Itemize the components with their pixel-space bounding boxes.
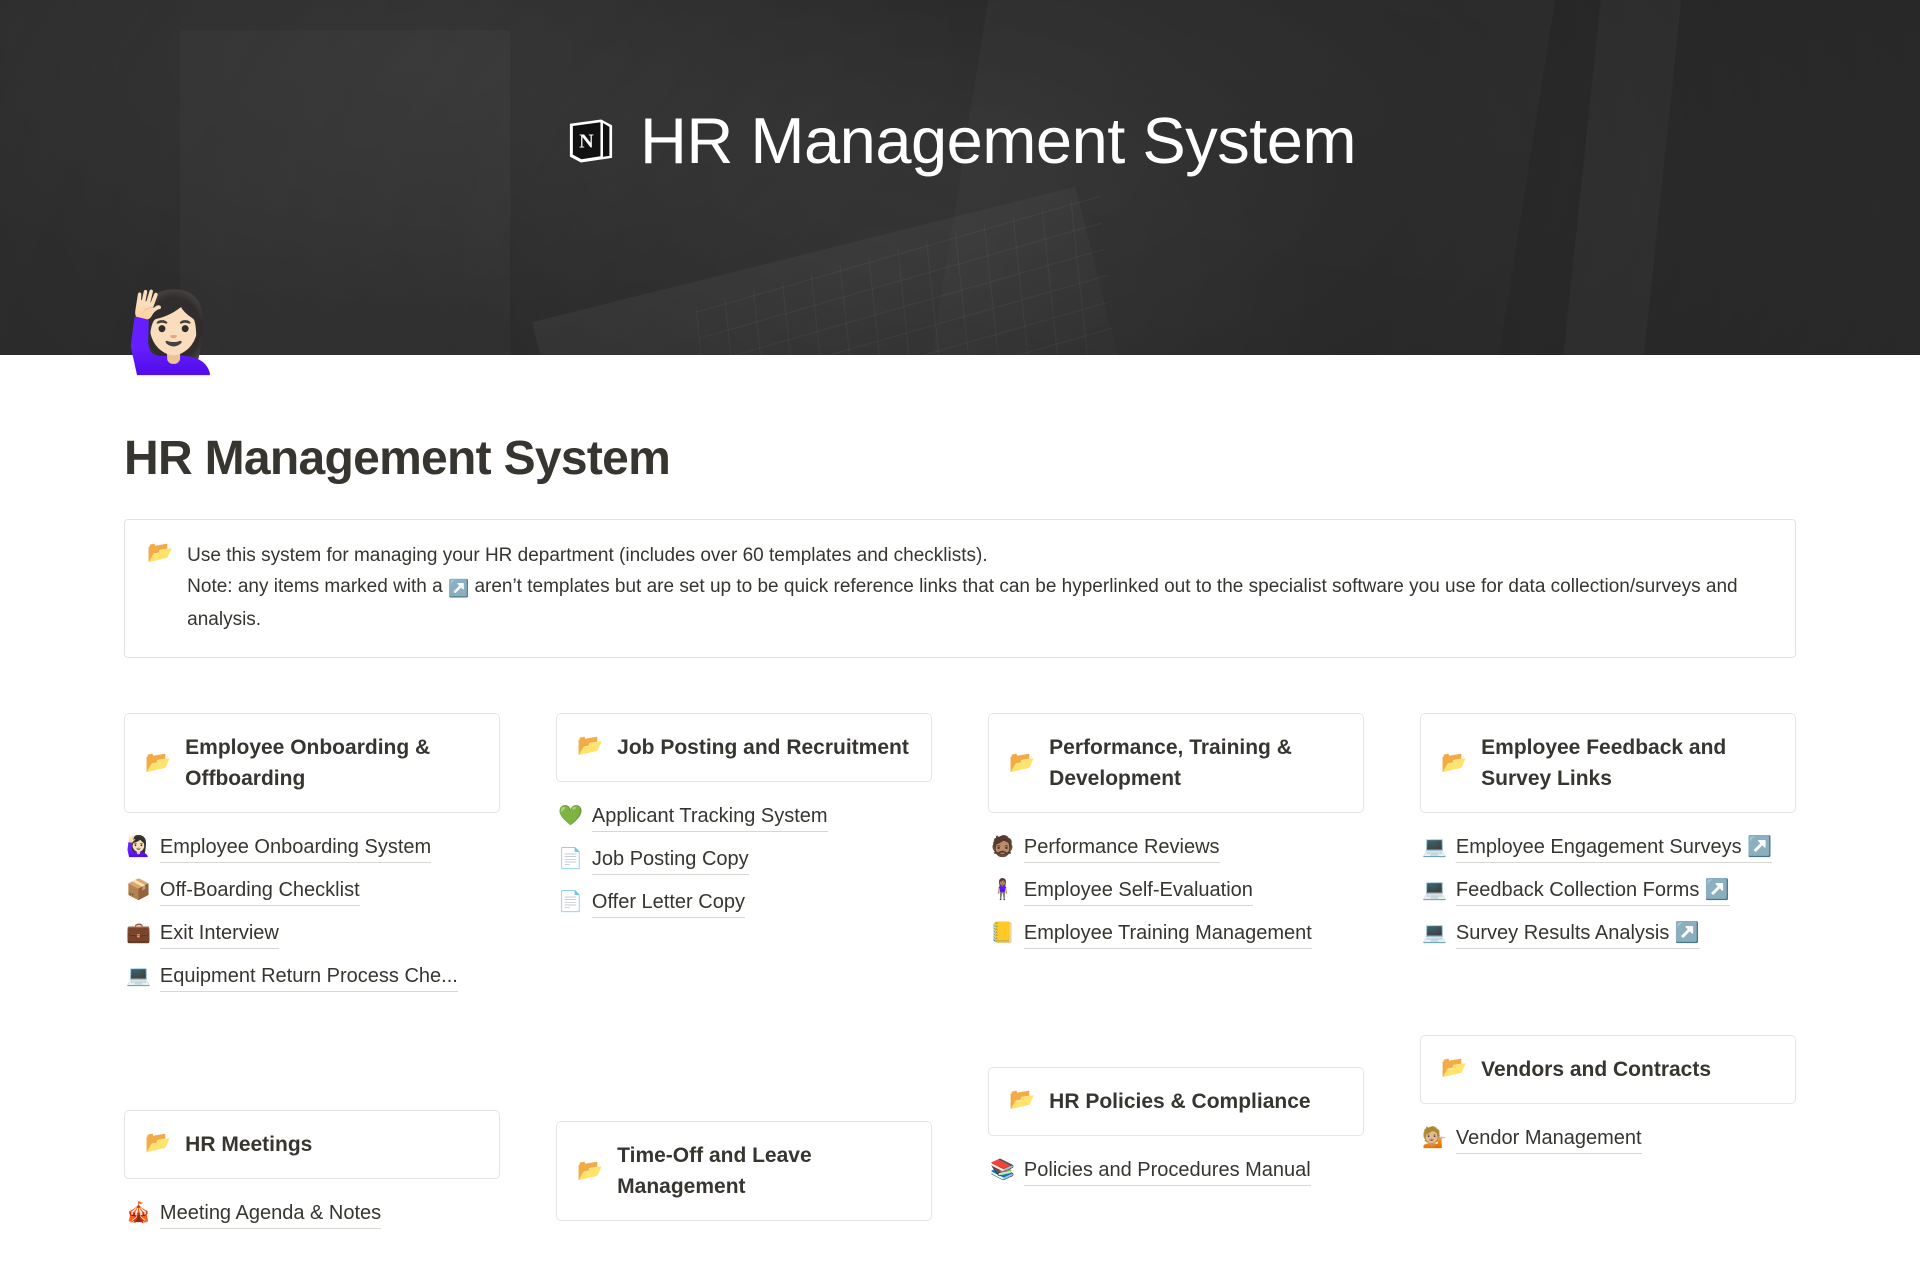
grid-column: 📂 Job Posting and Recruitment 💚 Applican… bbox=[556, 713, 932, 1229]
cover-vignette bbox=[0, 0, 1920, 355]
person-tipping-hand-emoji: 💁🏼 bbox=[1422, 1124, 1447, 1152]
grid-column: 📂 Performance, Training & Development 🧔🏽… bbox=[988, 713, 1364, 1229]
package-emoji: 📦 bbox=[126, 876, 151, 904]
open-folder-emoji: 📂 bbox=[1009, 749, 1035, 777]
page-icon-emoji[interactable]: 🙋🏻‍♀️ bbox=[125, 293, 222, 371]
card-title: Job Posting and Recruitment bbox=[617, 732, 909, 763]
list-item-label[interactable]: Feedback Collection Forms ↗️ bbox=[1456, 876, 1730, 906]
page-title: HR Management System bbox=[0, 355, 1920, 486]
section-card-time-off-and-leave-management[interactable]: 📂 Time-Off and Leave Management bbox=[556, 1121, 932, 1221]
list-item-label[interactable]: Employee Onboarding System bbox=[160, 833, 431, 863]
section-card-vendors-and-contracts[interactable]: 📂 Vendors and Contracts bbox=[1420, 1035, 1796, 1104]
list-item[interactable]: 📒 Employee Training Management bbox=[990, 919, 1364, 949]
section-card-hr-meetings[interactable]: 📂 HR Meetings bbox=[124, 1110, 500, 1179]
open-folder-emoji: 📂 bbox=[147, 540, 173, 566]
list-item[interactable]: 📚 Policies and Procedures Manual bbox=[990, 1156, 1364, 1186]
open-folder-emoji: 📂 bbox=[1009, 1086, 1035, 1114]
laptop-emoji: 💻 bbox=[1422, 919, 1447, 947]
grid-column: 📂 Employee Onboarding & Offboarding 🙋🏻‍♀… bbox=[124, 713, 500, 1229]
woman-standing-emoji: 🧍🏽‍♀️ bbox=[990, 876, 1015, 904]
list-item[interactable]: 📄 Job Posting Copy bbox=[558, 845, 932, 875]
row-spacer bbox=[1420, 949, 1796, 1035]
notion-cube-icon: N bbox=[564, 114, 618, 168]
list-item-label[interactable]: Offer Letter Copy bbox=[592, 888, 745, 918]
list-item-label[interactable]: Off-Boarding Checklist bbox=[160, 876, 360, 906]
open-folder-emoji: 📂 bbox=[577, 732, 603, 760]
list-item[interactable]: 🧔🏽 Performance Reviews bbox=[990, 833, 1364, 863]
list-item-label[interactable]: Policies and Procedures Manual bbox=[1024, 1156, 1311, 1186]
list-item-label[interactable]: Applicant Tracking System bbox=[592, 802, 828, 832]
link-list: 💁🏼 Vendor Management bbox=[1420, 1124, 1796, 1154]
row-spacer bbox=[988, 949, 1364, 1067]
list-item[interactable]: 🧍🏽‍♀️ Employee Self-Evaluation bbox=[990, 876, 1364, 906]
list-item-label[interactable]: Employee Training Management bbox=[1024, 919, 1312, 949]
open-folder-emoji: 📂 bbox=[145, 1129, 171, 1157]
books-emoji: 📚 bbox=[990, 1156, 1015, 1184]
open-folder-emoji: 📂 bbox=[577, 1157, 603, 1185]
link-list: 💚 Applicant Tracking System 📄 Job Postin… bbox=[556, 802, 932, 918]
link-list: 📚 Policies and Procedures Manual bbox=[988, 1156, 1364, 1186]
list-item[interactable]: 💻 Employee Engagement Surveys ↗️ bbox=[1422, 833, 1796, 863]
card-grid: 📂 Employee Onboarding & Offboarding 🙋🏻‍♀… bbox=[124, 713, 1796, 1229]
list-item[interactable]: 💻 Survey Results Analysis ↗️ bbox=[1422, 919, 1796, 949]
list-item-label[interactable]: Exit Interview bbox=[160, 919, 279, 949]
list-item[interactable]: 🎪 Meeting Agenda & Notes bbox=[126, 1199, 500, 1229]
list-item-label[interactable]: Meeting Agenda & Notes bbox=[160, 1199, 381, 1229]
list-item[interactable]: 💻 Equipment Return Process Che... bbox=[126, 962, 500, 992]
card-title: HR Policies & Compliance bbox=[1049, 1086, 1310, 1117]
callout-text: Use this system for managing your HR dep… bbox=[187, 540, 1773, 635]
list-item-label[interactable]: Vendor Management bbox=[1456, 1124, 1642, 1154]
link-list: 🎪 Meeting Agenda & Notes bbox=[124, 1199, 500, 1229]
card-title: Performance, Training & Development bbox=[1049, 732, 1343, 794]
row-spacer bbox=[124, 992, 500, 1110]
ledger-emoji: 📒 bbox=[990, 919, 1015, 947]
card-title: HR Meetings bbox=[185, 1129, 312, 1160]
gem-stone-emoji: 💚 bbox=[558, 802, 583, 830]
person-beard-emoji: 🧔🏽 bbox=[990, 833, 1015, 861]
cover-title-row: N HR Management System bbox=[0, 108, 1920, 173]
open-folder-emoji: 📂 bbox=[1441, 749, 1467, 777]
section-card-employee-feedback-and-survey-links[interactable]: 📂 Employee Feedback and Survey Links bbox=[1420, 713, 1796, 813]
open-folder-emoji: 📂 bbox=[145, 749, 171, 777]
list-item[interactable]: 📦 Off-Boarding Checklist bbox=[126, 876, 500, 906]
card-title: Vendors and Contracts bbox=[1481, 1054, 1711, 1085]
section-card-employee-onboarding-offboarding[interactable]: 📂 Employee Onboarding & Offboarding bbox=[124, 713, 500, 813]
section-card-performance-training-development[interactable]: 📂 Performance, Training & Development bbox=[988, 713, 1364, 813]
city-sunset-emoji: 🎪 bbox=[126, 1199, 151, 1227]
list-item-label[interactable]: Equipment Return Process Che... bbox=[160, 962, 458, 992]
page-cover-banner: N HR Management System bbox=[0, 0, 1920, 355]
section-card-hr-policies-compliance[interactable]: 📂 HR Policies & Compliance bbox=[988, 1067, 1364, 1136]
page-facing-up-emoji: 📄 bbox=[558, 845, 583, 873]
list-item[interactable]: 💚 Applicant Tracking System bbox=[558, 802, 932, 832]
grid-column: 📂 Employee Feedback and Survey Links 💻 E… bbox=[1420, 713, 1796, 1229]
link-list: 💻 Employee Engagement Surveys ↗️ 💻 Feedb… bbox=[1420, 833, 1796, 949]
link-list: 🧔🏽 Performance Reviews 🧍🏽‍♀️ Employee Se… bbox=[988, 833, 1364, 949]
list-item-label[interactable]: Job Posting Copy bbox=[592, 845, 749, 875]
list-item-label[interactable]: Employee Self-Evaluation bbox=[1024, 876, 1253, 906]
open-folder-emoji: 📂 bbox=[1441, 1054, 1467, 1082]
up-right-arrow-emoji: ↗️ bbox=[448, 579, 469, 598]
briefcase-emoji: 💼 bbox=[126, 919, 151, 947]
list-item[interactable]: 💁🏼 Vendor Management bbox=[1422, 1124, 1796, 1154]
page-body: 🙋🏻‍♀️ HR Management System 📂 Use this sy… bbox=[0, 355, 1920, 1269]
cover-title: HR Management System bbox=[640, 108, 1356, 173]
callout-block: 📂 Use this system for managing your HR d… bbox=[124, 519, 1796, 658]
laptop-emoji: 💻 bbox=[1422, 833, 1447, 861]
card-title: Employee Onboarding & Offboarding bbox=[185, 732, 479, 794]
card-title: Employee Feedback and Survey Links bbox=[1481, 732, 1775, 794]
svg-text:N: N bbox=[579, 130, 594, 152]
list-item-label[interactable]: Employee Engagement Surveys ↗️ bbox=[1456, 833, 1772, 863]
link-list: 🙋🏻‍♀️ Employee Onboarding System 📦 Off-B… bbox=[124, 833, 500, 992]
list-item[interactable]: 🙋🏻‍♀️ Employee Onboarding System bbox=[126, 833, 500, 863]
callout-line-1: Use this system for managing your HR dep… bbox=[187, 545, 987, 566]
list-item-label[interactable]: Performance Reviews bbox=[1024, 833, 1220, 863]
callout-line-2-before: Note: any items marked with a bbox=[187, 576, 443, 597]
row-spacer bbox=[556, 918, 932, 1121]
card-title: Time-Off and Leave Management bbox=[617, 1140, 911, 1202]
list-item-label[interactable]: Survey Results Analysis ↗️ bbox=[1456, 919, 1700, 949]
list-item[interactable]: 📄 Offer Letter Copy bbox=[558, 888, 932, 918]
person-raising-hand-emoji: 🙋🏻‍♀️ bbox=[126, 833, 151, 861]
section-card-job-posting-and-recruitment[interactable]: 📂 Job Posting and Recruitment bbox=[556, 713, 932, 782]
laptop-emoji: 💻 bbox=[1422, 876, 1447, 904]
list-item[interactable]: 💼 Exit Interview bbox=[126, 919, 500, 949]
laptop-emoji: 💻 bbox=[126, 962, 151, 990]
page-facing-up-emoji: 📄 bbox=[558, 888, 583, 916]
list-item[interactable]: 💻 Feedback Collection Forms ↗️ bbox=[1422, 876, 1796, 906]
